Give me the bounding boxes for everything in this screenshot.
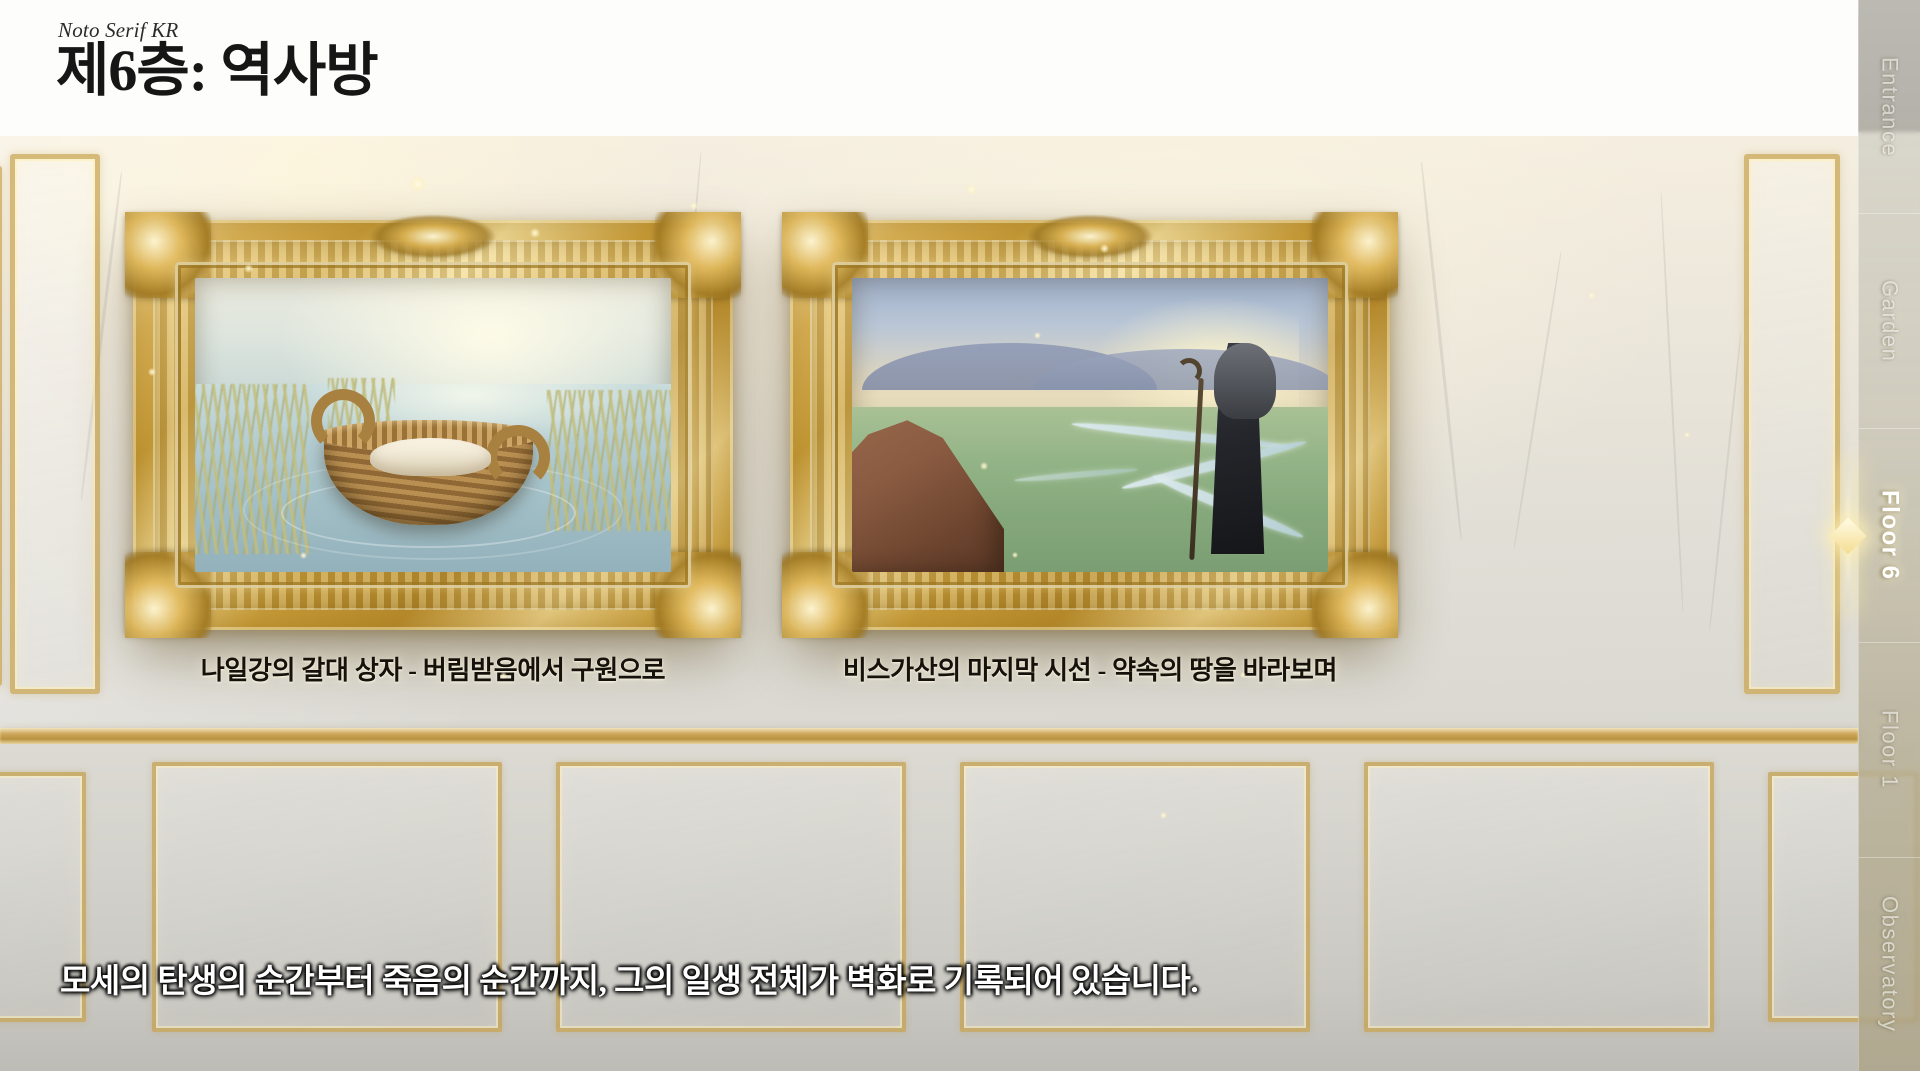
swaddling-blanket — [370, 438, 491, 476]
nav-item-observatory[interactable]: Observatory — [1859, 858, 1920, 1071]
page-title: 제6층: 역사방 — [56, 42, 378, 100]
gold-frame — [133, 220, 733, 630]
staff-hook — [1176, 358, 1202, 384]
narration-subtitle: 모세의 탄생의 순간부터 죽음의 순간까지, 그의 일생 전체가 벽화로 기록되… — [0, 954, 1858, 1002]
painting-canvas-nile — [195, 278, 671, 572]
artwork-basket-on-the-nile[interactable] — [133, 220, 733, 630]
moses-hair — [1214, 343, 1276, 419]
header-band: Noto Serif KR 제6층: 역사방 — [0, 0, 1858, 136]
gold-frame — [790, 220, 1390, 630]
wall-panel-left — [10, 154, 100, 694]
nav-item-entrance[interactable]: Entrance — [1859, 0, 1920, 214]
gallery-room: 나일강의 갈대 상자 - 버림받음에서 구원으로 — [0, 132, 1920, 1071]
wainscot — [0, 744, 1858, 1071]
wall-panel-right — [1744, 154, 1840, 694]
artwork-caption-1: 나일강의 갈대 상자 - 버림받음에서 구원으로 — [133, 650, 733, 687]
floor-nav-rail[interactable]: Entrance Garden Floor 6 Floor 1 Observat… — [1858, 0, 1920, 1071]
nav-item-label: Entrance — [1877, 57, 1903, 157]
nav-item-label: Garden — [1877, 280, 1903, 362]
artwork-caption-2: 비스가산의 마지막 시선 - 약속의 땅을 바라보며 — [790, 650, 1390, 687]
nav-item-floor-6[interactable]: Floor 6 — [1859, 429, 1920, 643]
nav-item-floor-1[interactable]: Floor 1 — [1859, 643, 1920, 857]
nav-item-garden[interactable]: Garden — [1859, 214, 1920, 428]
artwork-pisgah-vista[interactable] — [790, 220, 1390, 630]
basket-handle-right — [486, 425, 550, 489]
painting-canvas-pisgah — [852, 278, 1328, 572]
basket-handle-left — [311, 389, 375, 453]
gallery-screen: 나일강의 갈대 상자 - 버림받음에서 구원으로 — [0, 0, 1920, 1071]
nav-item-label: Floor 6 — [1876, 490, 1904, 581]
nav-item-label: Floor 1 — [1877, 710, 1903, 789]
wall-panel-left-outer — [0, 166, 2, 686]
nav-item-label: Observatory — [1877, 896, 1903, 1032]
